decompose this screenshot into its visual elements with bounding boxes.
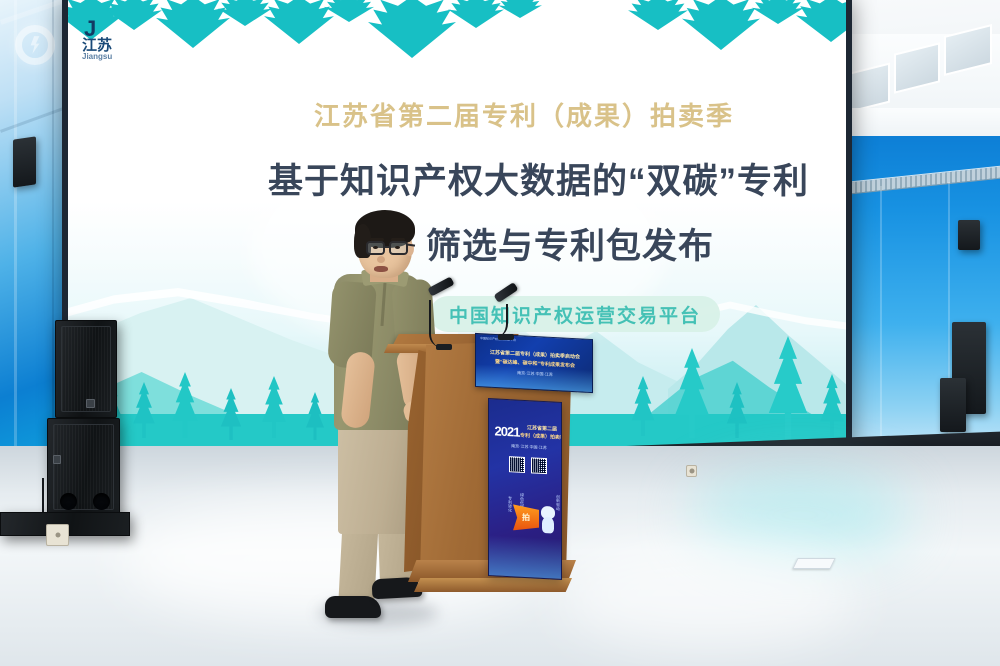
banner-line-3: 南京·江苏 中国·江苏 xyxy=(503,443,555,452)
banner-city-skyline xyxy=(489,535,562,579)
screen-title-line-1: 基于知识产权大数据的“双碳”专利 xyxy=(268,153,809,204)
decor-pine-inverted xyxy=(156,0,230,48)
banner-flag-char: 拍 xyxy=(519,512,533,524)
pa-speaker-top xyxy=(55,320,117,418)
microphone-gooseneck-left xyxy=(429,300,443,348)
eye-left xyxy=(373,246,378,249)
shoe-left xyxy=(325,596,381,618)
upper-wall-band xyxy=(842,108,1000,138)
qr-code[interactable] xyxy=(531,457,547,474)
decor-pine-inverted xyxy=(498,0,542,18)
decor-pine-inverted xyxy=(682,0,760,50)
lectern-base-plinth xyxy=(414,578,572,592)
speaker-port xyxy=(93,493,110,510)
microphone-base-right xyxy=(498,334,514,340)
floor-reflection xyxy=(560,540,860,650)
decor-pine-inverted xyxy=(218,0,272,26)
screen-title-line-2: 筛选与专利包发布 xyxy=(426,218,714,269)
banner-year: 2021 xyxy=(493,423,521,439)
decor-pine-inverted xyxy=(628,0,688,30)
screen-platform-badge: 中国知识产权运营交易平台 xyxy=(430,296,720,332)
speaker-port xyxy=(60,493,77,510)
stage-floor-outlet xyxy=(686,465,697,477)
decor-pine-inverted xyxy=(324,0,374,22)
banner-mascot-body xyxy=(542,517,554,534)
decor-pine-inverted xyxy=(448,0,504,28)
wall-mounted-speaker xyxy=(13,136,36,187)
microphone-base-left xyxy=(436,344,452,350)
decor-pine-inverted xyxy=(106,0,162,30)
screen-brand-pinyin: Jiangsu xyxy=(82,52,112,61)
floor-paper xyxy=(792,558,835,569)
decor-pine-inverted xyxy=(368,0,456,58)
glasses-bridge xyxy=(384,246,390,248)
lectern-sign-panel: 中国知识产权运营交易平台 江苏省第二届专利（成果）拍卖季启动会 暨“碳达峰、碳中… xyxy=(475,333,593,393)
banner-line-2: 专利（成果）拍卖季 xyxy=(520,432,562,441)
speaker-badge xyxy=(53,455,61,464)
decor-pine-inverted xyxy=(264,0,334,44)
venue-emblem-watermark xyxy=(15,25,55,65)
lectern-banner: 2021 江苏省第二届 专利（成果）拍卖季 南京·江苏 中国·江苏 专利转化 绿… xyxy=(488,398,562,580)
wall-seam xyxy=(14,0,17,512)
wall-mounted-speaker xyxy=(958,220,980,250)
wall-seam xyxy=(880,186,882,470)
eye-right xyxy=(395,246,400,249)
decor-pine-inverted xyxy=(796,0,846,42)
floor-speaker-right-lower xyxy=(940,378,966,432)
nose xyxy=(377,256,385,263)
qr-code[interactable] xyxy=(509,456,525,473)
speaker-badge xyxy=(86,399,95,408)
conference-photo-scene: J 江苏 Jiangsu 江苏省第二届专利（成果）拍卖季 基于知识产权大数据的“… xyxy=(0,0,1000,666)
screen-subtitle: 江苏省第二届专利（成果）拍卖季 xyxy=(314,96,734,133)
decor-pine-inverted xyxy=(752,0,804,24)
floor-outlet-left xyxy=(46,524,69,546)
mouth xyxy=(374,266,388,272)
